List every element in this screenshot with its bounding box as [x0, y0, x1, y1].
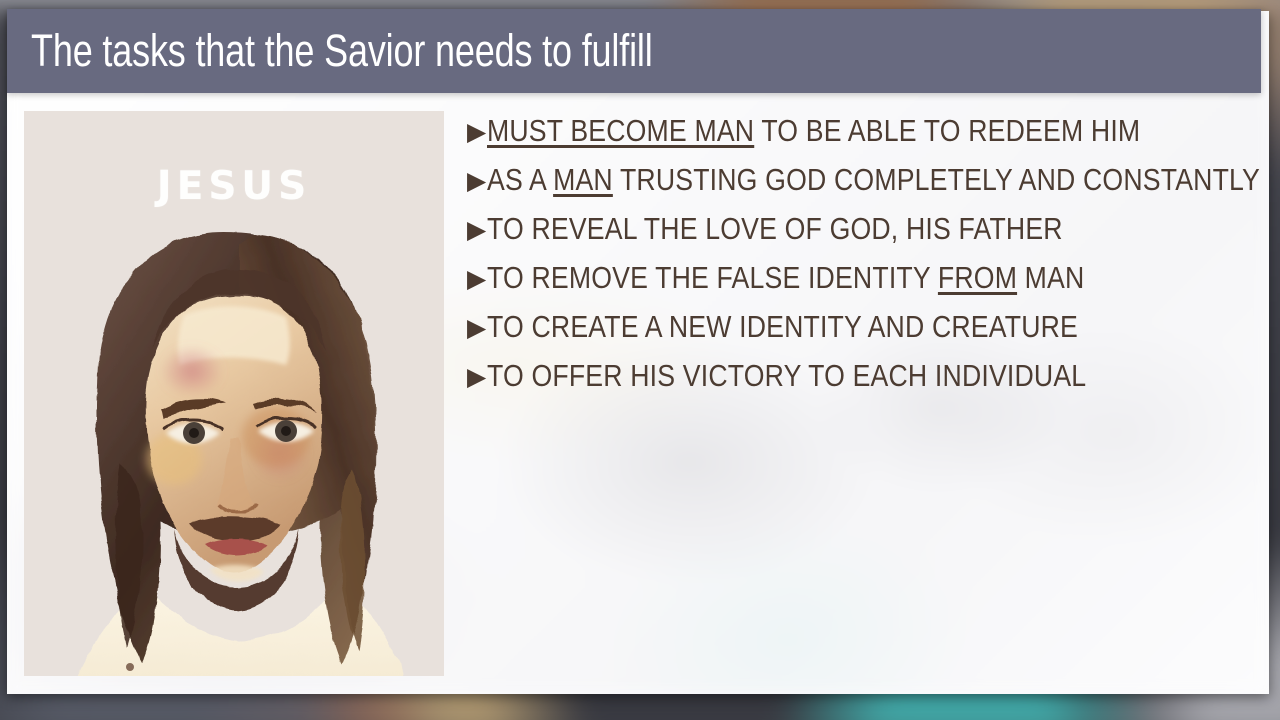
list-item-emphasis: FROM [938, 260, 1017, 295]
list-item[interactable]: ▶ TO REVEAL THE LOVE OF GOD, HIS FATHER [467, 211, 1247, 260]
list-item-emphasis: MAN [553, 162, 613, 197]
list-item-text: MUST BECOME MAN TO BE ABLE TO REDEEM HIM [487, 113, 1140, 149]
presentation-viewport: The tasks that the Savior needs to fulfi… [0, 0, 1280, 720]
list-item-rest: TRUSTING GOD COMPLETELY AND CONSTANTLY [613, 162, 1260, 197]
jesus-portrait-image [24, 223, 444, 676]
list-item-rest: TO BE ABLE TO REDEEM HIM [754, 113, 1140, 148]
list-item-rest: MAN [1017, 260, 1084, 295]
list-item[interactable]: ▶ TO OFFER HIS VICTORY TO EACH INDIVIDUA… [467, 358, 1247, 407]
slide-title-bar: The tasks that the Savior needs to fulfi… [7, 9, 1261, 93]
triangle-bullet-icon: ▶ [467, 168, 486, 193]
list-item-emphasis: MUST BECOME MAN [487, 113, 754, 148]
list-item[interactable]: ▶ TO CREATE A NEW IDENTITY AND CREATURE [467, 309, 1247, 358]
triangle-bullet-icon: ▶ [467, 364, 486, 389]
list-item[interactable]: ▶ MUST BECOME MAN TO BE ABLE TO REDEEM H… [467, 113, 1247, 162]
list-item-text: AS A MAN TRUSTING GOD COMPLETELY AND CON… [487, 162, 1260, 198]
list-item-pre: AS A [487, 162, 553, 197]
list-item[interactable]: ▶ AS A MAN TRUSTING GOD COMPLETELY AND C… [467, 162, 1247, 211]
bullet-list: ▶ MUST BECOME MAN TO BE ABLE TO REDEEM H… [467, 113, 1247, 407]
list-item-text: TO CREATE A NEW IDENTITY AND CREATURE [487, 309, 1078, 345]
page-title: The tasks that the Savior needs to fulfi… [7, 25, 653, 77]
jesus-picture-panel: Jesus [24, 111, 444, 676]
list-item-pre: TO REMOVE THE FALSE IDENTITY [487, 260, 938, 295]
list-item-text: TO OFFER HIS VICTORY TO EACH INDIVIDUAL [487, 358, 1086, 394]
triangle-bullet-icon: ▶ [467, 266, 486, 291]
list-item-text: TO REVEAL THE LOVE OF GOD, HIS FATHER [487, 211, 1063, 247]
triangle-bullet-icon: ▶ [467, 119, 486, 144]
triangle-bullet-icon: ▶ [467, 315, 486, 340]
list-item[interactable]: ▶ TO REMOVE THE FALSE IDENTITY FROM MAN [467, 260, 1247, 309]
jesus-caption: Jesus [24, 147, 444, 213]
triangle-bullet-icon: ▶ [467, 217, 486, 242]
list-item-text: TO REMOVE THE FALSE IDENTITY FROM MAN [487, 260, 1084, 296]
